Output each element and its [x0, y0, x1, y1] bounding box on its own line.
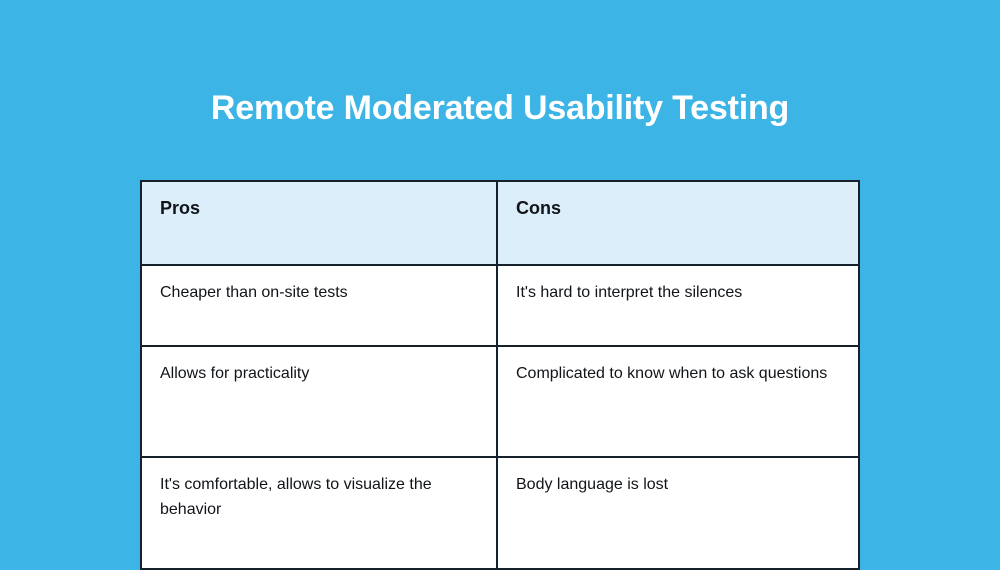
cell-cons: Complicated to know when to ask question…: [497, 346, 859, 457]
table-header: Pros Cons: [141, 181, 859, 265]
slide-canvas: Remote Moderated Usability Testing Pros …: [0, 0, 1000, 534]
table-row: It's comfortable, allows to visualize th…: [141, 457, 859, 569]
pros-cons-table-container: Pros Cons Cheaper than on-site tests It'…: [140, 180, 858, 570]
table-row: Cheaper than on-site tests It's hard to …: [141, 265, 859, 346]
page-title: Remote Moderated Usability Testing: [0, 86, 1000, 130]
pros-cons-table: Pros Cons Cheaper than on-site tests It'…: [140, 180, 860, 570]
table-row: Allows for practicality Complicated to k…: [141, 346, 859, 457]
column-header-cons: Cons: [497, 181, 859, 265]
column-header-pros: Pros: [141, 181, 497, 265]
table-body: Cheaper than on-site tests It's hard to …: [141, 265, 859, 569]
cell-cons: Body language is lost: [497, 457, 859, 569]
cell-pros: It's comfortable, allows to visualize th…: [141, 457, 497, 569]
cell-pros: Cheaper than on-site tests: [141, 265, 497, 346]
cell-cons: It's hard to interpret the silences: [497, 265, 859, 346]
table-header-row: Pros Cons: [141, 181, 859, 265]
cell-pros: Allows for practicality: [141, 346, 497, 457]
